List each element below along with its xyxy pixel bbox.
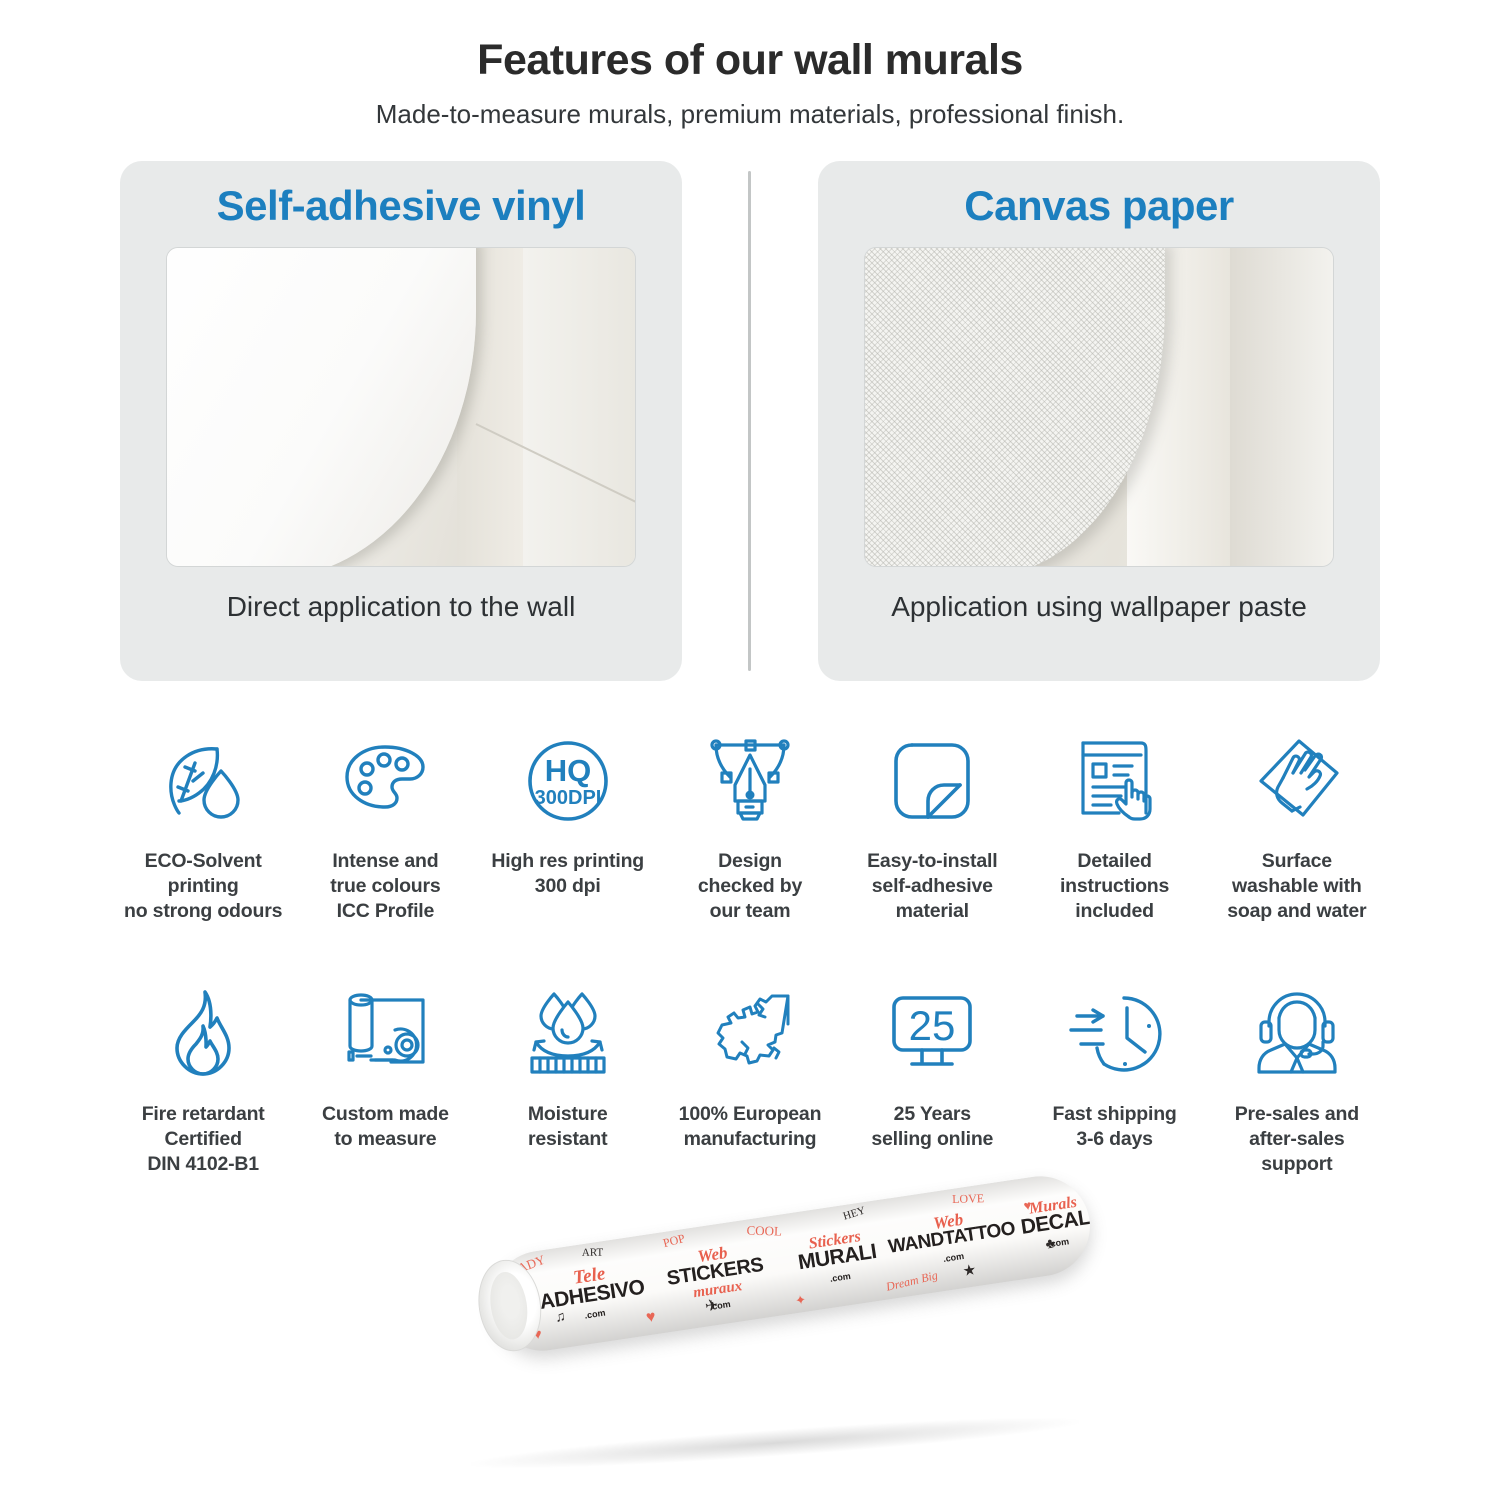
feature-label: Intense andtrue coloursICC Profile — [330, 849, 440, 924]
feature-label: ECO-Solventprintingno strong odours — [124, 849, 282, 924]
canvas-material-photo — [864, 247, 1334, 567]
feature-eco-solvent: ECO-Solventprintingno strong odours — [112, 727, 294, 924]
feature-25-years-online: 25 25 Yearsselling online — [841, 980, 1023, 1177]
vinyl-material-photo — [166, 247, 636, 567]
feature-row-2: Fire retardantCertifiedDIN 4102-B1 — [112, 980, 1388, 1177]
doodle-text: POP — [662, 1231, 687, 1251]
feature-european-manufacturing: 100% Europeanmanufacturing — [659, 980, 841, 1177]
flame-icon — [155, 980, 251, 1088]
tube-shadow — [470, 1409, 1080, 1477]
roll-measuring-tape-icon — [337, 980, 433, 1088]
water-repellent-icon — [520, 980, 616, 1088]
card-canvas-paper[interactable]: Canvas paper Application using wallpaper… — [818, 161, 1380, 681]
feature-high-res-printing: HQ 300DPI High res printing300 dpi — [477, 727, 659, 924]
card-caption: Application using wallpaper paste — [891, 589, 1307, 626]
pen-tool-bezier-icon — [702, 727, 798, 835]
infographic-page: Features of our wall murals Made-to-meas… — [0, 0, 1500, 1500]
feature-label: Pre-sales andafter-salessupport — [1235, 1102, 1359, 1177]
feature-label: Fast shipping3-6 days — [1052, 1102, 1176, 1152]
feature-label: High res printing300 dpi — [491, 849, 644, 899]
feature-support: Pre-sales andafter-salessupport — [1206, 980, 1388, 1177]
hq-badge-bottom: 300DPI — [534, 787, 601, 809]
feature-label: Custom madeto measure — [322, 1102, 449, 1152]
leaf-droplet-icon — [155, 727, 251, 835]
instructions-hand-icon — [1067, 727, 1163, 835]
feature-moisture-resistant: Moistureresistant — [477, 980, 659, 1177]
monitor-badge-number: 25 — [909, 1002, 956, 1049]
doodle-text: LOVE — [952, 1191, 984, 1207]
feature-custom-made: Custom madeto measure — [294, 980, 476, 1177]
packaging-tube: READY ART POP COOL HEY LOVE Dream Big ♥ … — [444, 1169, 1104, 1411]
peeling-sticker-icon — [884, 727, 980, 835]
page-title: Features of our wall murals — [0, 38, 1500, 83]
card-caption: Direct application to the wall — [227, 589, 576, 626]
feature-fast-shipping: Fast shipping3-6 days — [1023, 980, 1205, 1177]
feature-label: 100% Europeanmanufacturing — [679, 1102, 822, 1152]
fast-clock-icon — [1067, 980, 1163, 1088]
hand-cloth-wipe-icon — [1249, 727, 1345, 835]
feature-design-checked: Designchecked byour team — [659, 727, 841, 924]
hq-badge-top: HQ — [544, 753, 591, 788]
feature-surface-washable: Surfacewashable withsoap and water — [1206, 727, 1388, 924]
card-self-adhesive-vinyl[interactable]: Self-adhesive vinyl Direct application t… — [120, 161, 682, 681]
support-headset-icon — [1249, 980, 1345, 1088]
feature-detailed-instructions: Detailedinstructionsincluded — [1023, 727, 1205, 924]
packaging-tube-section: READY ART POP COOL HEY LOVE Dream Big ♥ … — [0, 1252, 1500, 1500]
feature-label: Designchecked byour team — [698, 849, 802, 924]
monitor-25-icon: 25 — [884, 980, 980, 1088]
feature-label: Easy-to-installself-adhesivematerial — [867, 849, 997, 924]
feature-label: Moistureresistant — [528, 1102, 608, 1152]
feature-fire-retardant: Fire retardantCertifiedDIN 4102-B1 — [112, 980, 294, 1177]
feature-label: Surfacewashable withsoap and water — [1227, 849, 1366, 924]
europe-map-icon — [702, 980, 798, 1088]
vertical-divider — [748, 171, 751, 671]
doodle-text: COOL — [746, 1223, 782, 1240]
doodle-text: ART — [582, 1247, 603, 1259]
doodle-text: HEY — [842, 1204, 867, 1222]
feature-row-1: ECO-Solventprintingno strong odours Inte… — [112, 727, 1388, 924]
feature-label: Fire retardantCertifiedDIN 4102-B1 — [142, 1102, 265, 1177]
card-title: Self-adhesive vinyl — [217, 183, 586, 229]
hq-300dpi-badge-icon: HQ 300DPI — [520, 727, 616, 835]
feature-intense-colours: Intense andtrue coloursICC Profile — [294, 727, 476, 924]
card-title: Canvas paper — [964, 183, 1233, 229]
feature-label: 25 Yearsselling online — [871, 1102, 993, 1152]
page-subtitle: Made-to-measure murals, premium material… — [0, 99, 1500, 130]
tube-body: READY ART POP COOL HEY LOVE Dream Big ♥ … — [486, 1169, 1097, 1357]
header: Features of our wall murals Made-to-meas… — [0, 0, 1500, 130]
feature-easy-install: Easy-to-installself-adhesivematerial — [841, 727, 1023, 924]
features-section: ECO-Solventprintingno strong odours Inte… — [112, 727, 1388, 1177]
feature-label: Detailedinstructionsincluded — [1060, 849, 1169, 924]
paint-palette-icon — [337, 727, 433, 835]
comparison-section: Self-adhesive vinyl Direct application t… — [120, 161, 1380, 681]
